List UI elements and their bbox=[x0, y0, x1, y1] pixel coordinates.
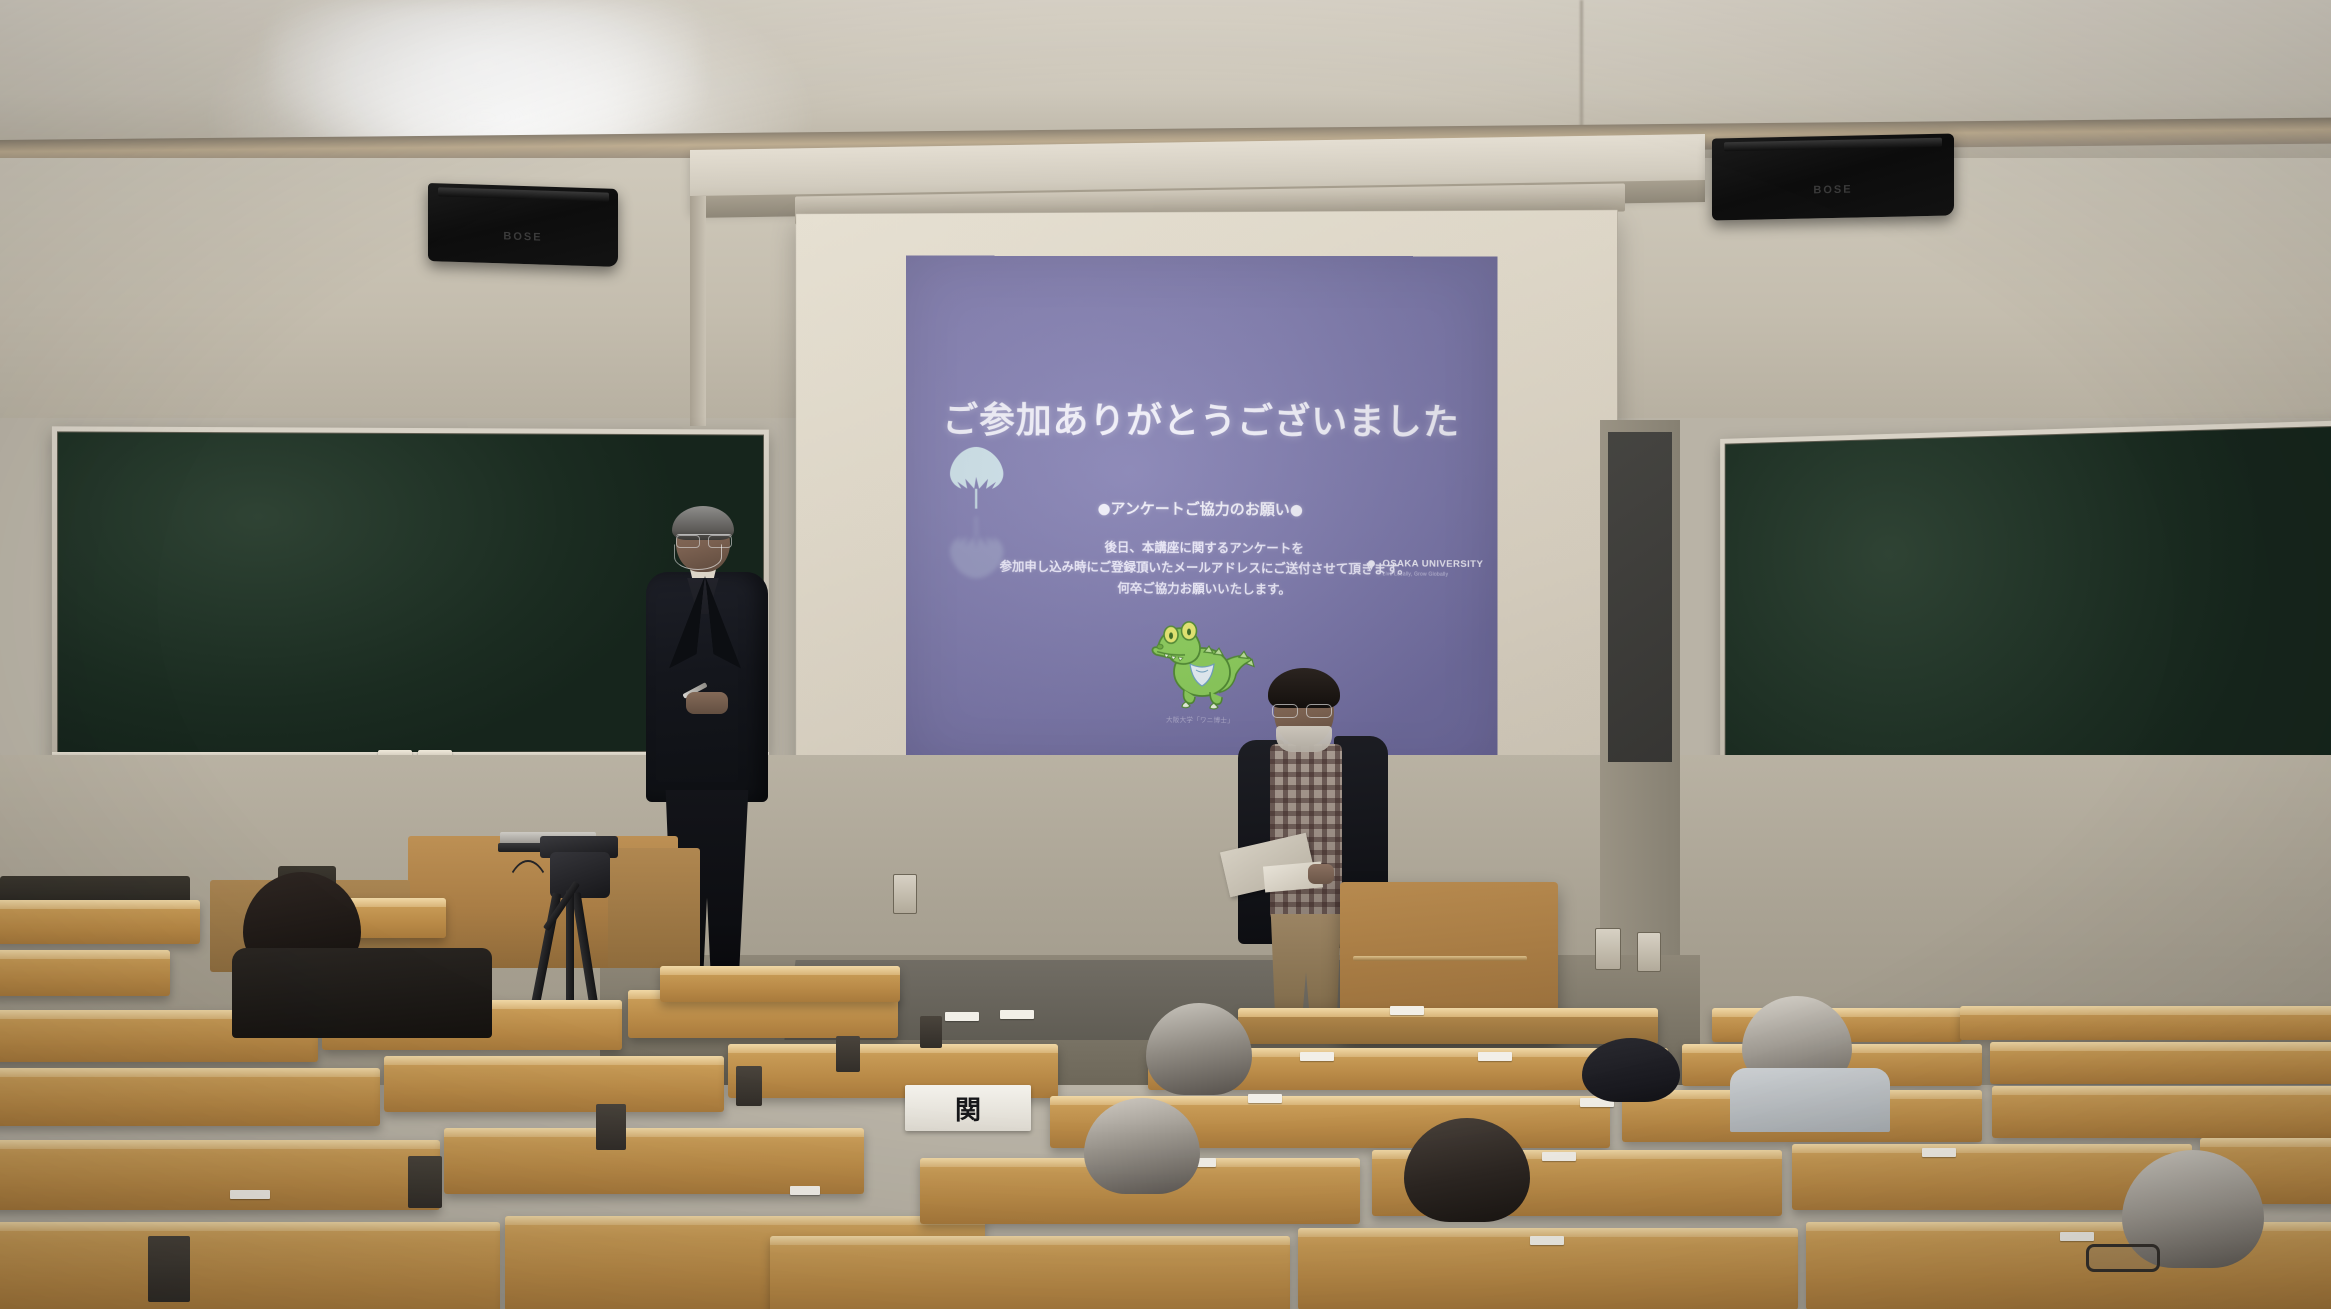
seat-number-label bbox=[1000, 1010, 1034, 1019]
slide-body-line-3: 何卒ご協力お願いいたします。 bbox=[934, 577, 1478, 601]
seat-number-label bbox=[1530, 1236, 1564, 1245]
seat-number-label bbox=[1922, 1148, 1956, 1157]
front-desk-right bbox=[608, 848, 700, 968]
audience-front-left-torso bbox=[232, 948, 492, 1038]
lectern-ledge bbox=[1353, 956, 1527, 961]
presenter-hair bbox=[1268, 668, 1340, 708]
seat-number-label bbox=[230, 1190, 270, 1199]
slide-title: ご参加ありがとうございました bbox=[906, 391, 1497, 446]
wall-dark-panel bbox=[1608, 432, 1672, 762]
bench-row[interactable] bbox=[1238, 1008, 1658, 1044]
seat-number-label bbox=[1248, 1094, 1282, 1103]
speaker-brand-label: BOSE bbox=[503, 231, 542, 244]
seat-side-panel bbox=[920, 1016, 942, 1048]
seat-side-panel bbox=[148, 1236, 190, 1302]
bench-row[interactable] bbox=[770, 1236, 1290, 1309]
osaka-university-tagline: Live Locally, Grow Globally bbox=[1382, 571, 1483, 578]
bench-row[interactable] bbox=[0, 950, 170, 996]
seat-number-label bbox=[2060, 1232, 2094, 1241]
seat-number-label bbox=[790, 1186, 820, 1195]
speaker-right: BOSE bbox=[1712, 133, 1954, 220]
bench-row[interactable] bbox=[0, 900, 200, 944]
osaka-university-name: OSAKA UNIVERSITY bbox=[1382, 558, 1483, 570]
presenter-hand bbox=[1308, 864, 1334, 884]
seat-side-panel bbox=[736, 1066, 762, 1106]
seat-number-label bbox=[1390, 1006, 1424, 1015]
audience-right-1-shirt bbox=[1730, 1068, 1890, 1132]
face-mask-icon bbox=[1276, 726, 1332, 752]
seat-number-label bbox=[1478, 1052, 1512, 1061]
osaka-university-mark-icon bbox=[1365, 559, 1377, 571]
slide-subtitle: ●アンケートご協力のお願い● bbox=[906, 496, 1497, 521]
speaker-grille bbox=[438, 187, 609, 201]
wall-outlet-plate[interactable] bbox=[893, 874, 917, 914]
seat-side-panel bbox=[836, 1036, 860, 1072]
osaka-university-logo: OSAKA UNIVERSITY Live Locally, Grow Glob… bbox=[1365, 553, 1483, 578]
seat-number-label bbox=[945, 1012, 979, 1021]
tripod-leg bbox=[566, 890, 574, 1002]
bench-row[interactable] bbox=[0, 1222, 500, 1309]
presenter-hands bbox=[686, 692, 728, 714]
camera-cable bbox=[500, 860, 556, 990]
bench-row[interactable] bbox=[0, 1068, 380, 1126]
seat-number-label bbox=[1300, 1052, 1334, 1061]
speaker-brand-label: BOSE bbox=[1813, 183, 1852, 196]
lecture-hall-scene: BOSE BOSE ご参加ありがとうございました ●アンケートご協力のお願い● bbox=[0, 0, 2331, 1309]
seat-placard: 関 bbox=[905, 1085, 1031, 1131]
seat-number-label bbox=[1542, 1152, 1576, 1161]
seat-side-panel bbox=[408, 1156, 442, 1208]
wall-pillar-left bbox=[690, 196, 706, 426]
projected-slide: ご参加ありがとうございました ●アンケートご協力のお願い● 後日、本講座に関する… bbox=[906, 256, 1497, 776]
seat-side-panel bbox=[596, 1104, 626, 1150]
speaker-left: BOSE bbox=[428, 183, 618, 267]
bench-row[interactable] bbox=[444, 1128, 864, 1194]
bench-row[interactable] bbox=[1960, 1006, 2331, 1040]
plaid-shirt bbox=[1270, 744, 1342, 920]
bench-row[interactable] bbox=[1992, 1086, 2331, 1138]
speaker-grille bbox=[1724, 138, 1942, 152]
bench-row[interactable] bbox=[0, 1140, 440, 1210]
headset-microphone-icon bbox=[674, 544, 722, 570]
wall-outlet-plate-2[interactable] bbox=[1637, 932, 1661, 972]
glasses-icon bbox=[1272, 704, 1332, 716]
bench-row[interactable] bbox=[1990, 1042, 2331, 1084]
bench-row[interactable] bbox=[660, 966, 900, 1002]
wall-switch-plate[interactable] bbox=[1595, 928, 1621, 970]
tripod-head[interactable] bbox=[550, 852, 610, 898]
audience-right-2-glasses-icon bbox=[2086, 1244, 2160, 1272]
mascot-caption: 大阪大学「ワニ博士」 bbox=[906, 711, 1497, 727]
bench-row[interactable] bbox=[384, 1056, 724, 1112]
